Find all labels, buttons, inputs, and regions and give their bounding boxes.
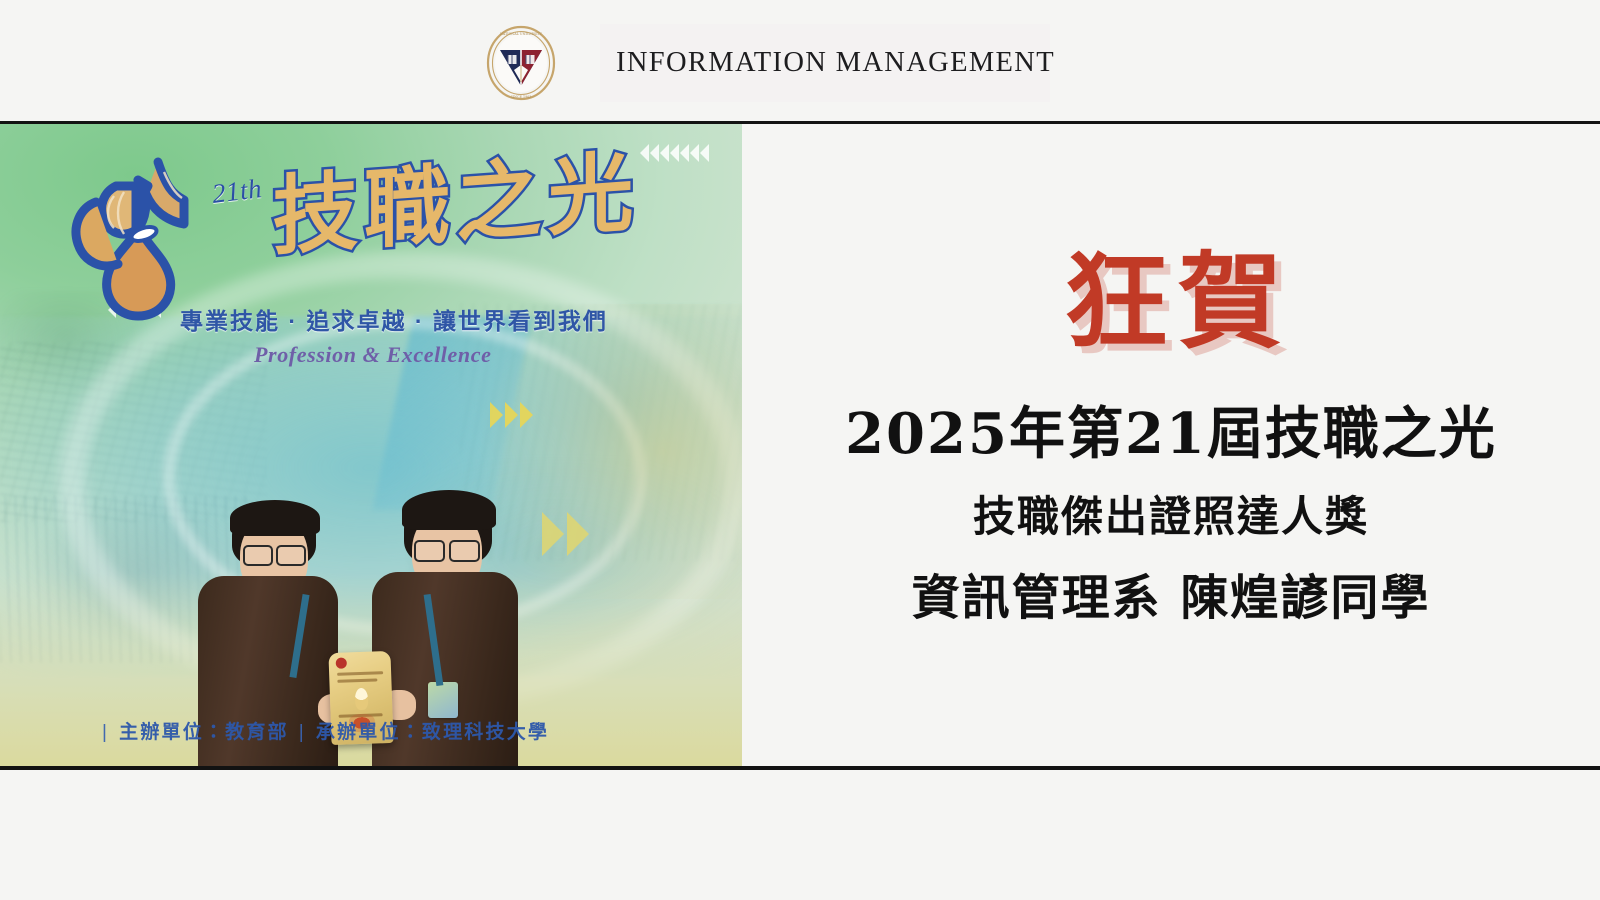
plaque-text-line <box>337 678 377 682</box>
department-title-box: INFORMATION MANAGEMENT <box>600 24 1050 102</box>
announcement-panel: 狂賀 2025年第21屆技職之光 技職傑出證照達人獎 資訊管理系 陳煌諺同學 <box>742 124 1600 766</box>
svg-text:NATIONAL UNIVERSITY: NATIONAL UNIVERSITY <box>500 32 543 36</box>
header-inner: NATIONAL UNIVERSITY · SINCE 1963 · INFOR… <box>484 22 1050 104</box>
announcement-recipient-line: 資訊管理系 陳煌諺同學 <box>742 574 1600 622</box>
organizer-separator-leading: | <box>92 722 119 743</box>
plaque-figure-icon <box>354 688 368 710</box>
recipient-glasses-right-lens <box>449 540 480 562</box>
announcement-event-line: 2025年第21屆技職之光 <box>742 406 1600 462</box>
page-footer-whitespace <box>0 770 1600 900</box>
presenter-glasses-left-lens <box>243 545 273 566</box>
recipient-fringe <box>402 490 496 530</box>
organizer-label: 主辦單位：教育部 <box>119 722 289 743</box>
presenter-fringe <box>230 500 320 536</box>
content-band: 21th 技職之光 專業技能 · 追求卓越 · 讓世界看到我們 Professi… <box>0 124 1600 770</box>
event-organizers: |主辦單位：教育部|承辦單位：致理科技大學 <box>92 717 549 744</box>
photo-scene: 21th 技職之光 專業技能 · 追求卓越 · 讓世界看到我們 Professi… <box>0 124 742 766</box>
plaque-text-line <box>337 671 383 676</box>
university-seal-icon: NATIONAL UNIVERSITY · SINCE 1963 · <box>484 24 558 102</box>
recipient-name-badge <box>428 682 458 718</box>
site-header: NATIONAL UNIVERSITY · SINCE 1963 · INFOR… <box>0 0 1600 124</box>
presenter-glasses-right-lens <box>276 545 306 566</box>
announcement-award-line: 技職傑出證照達人獎 <box>742 496 1600 538</box>
award-ceremony-photo: 21th 技職之光 專業技能 · 追求卓越 · 讓世界看到我們 Professi… <box>0 124 742 766</box>
department-title: INFORMATION MANAGEMENT <box>616 47 1055 79</box>
organizer-separator: | <box>289 722 316 743</box>
page-root: NATIONAL UNIVERSITY · SINCE 1963 · INFOR… <box>0 0 1600 900</box>
announcement-headline: 狂賀 <box>742 250 1600 354</box>
coorganizer-label: 承辦單位：致理科技大學 <box>316 722 549 743</box>
recipient-glasses-left-lens <box>414 540 445 562</box>
photo-people-group <box>0 124 742 766</box>
svg-text:· SINCE 1963 ·: · SINCE 1963 · <box>508 95 533 99</box>
plaque-emblem-icon <box>336 657 347 668</box>
